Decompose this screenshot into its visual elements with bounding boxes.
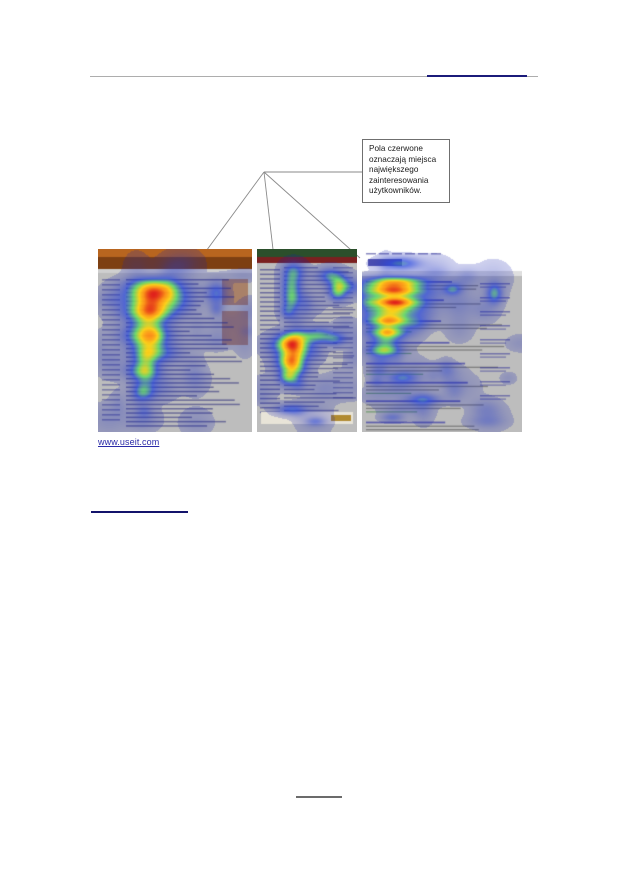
heatmap-figure [98,249,522,432]
page-number-marker [296,796,342,798]
figure-source-link[interactable]: www.useit.com [98,437,159,447]
callout-box: Pola czerwone oznaczają miejsca najwięks… [362,139,450,203]
heatmap-search-results [362,249,522,432]
callout-leader-lines [0,0,630,893]
document-page: Pola czerwone oznaczają miejsca najwięks… [0,0,630,893]
footnote-separator-rule [91,511,188,513]
heatmap-article-page [98,249,252,432]
heatmap-product-page [257,249,357,432]
heatmap-search-results-canvas [362,249,522,432]
heatmap-product-page-canvas [257,249,357,432]
header-rule-accent [427,75,527,77]
heatmap-article-page-canvas [98,249,252,432]
callout-text: Pola czerwone oznaczają miejsca najwięks… [369,144,444,197]
